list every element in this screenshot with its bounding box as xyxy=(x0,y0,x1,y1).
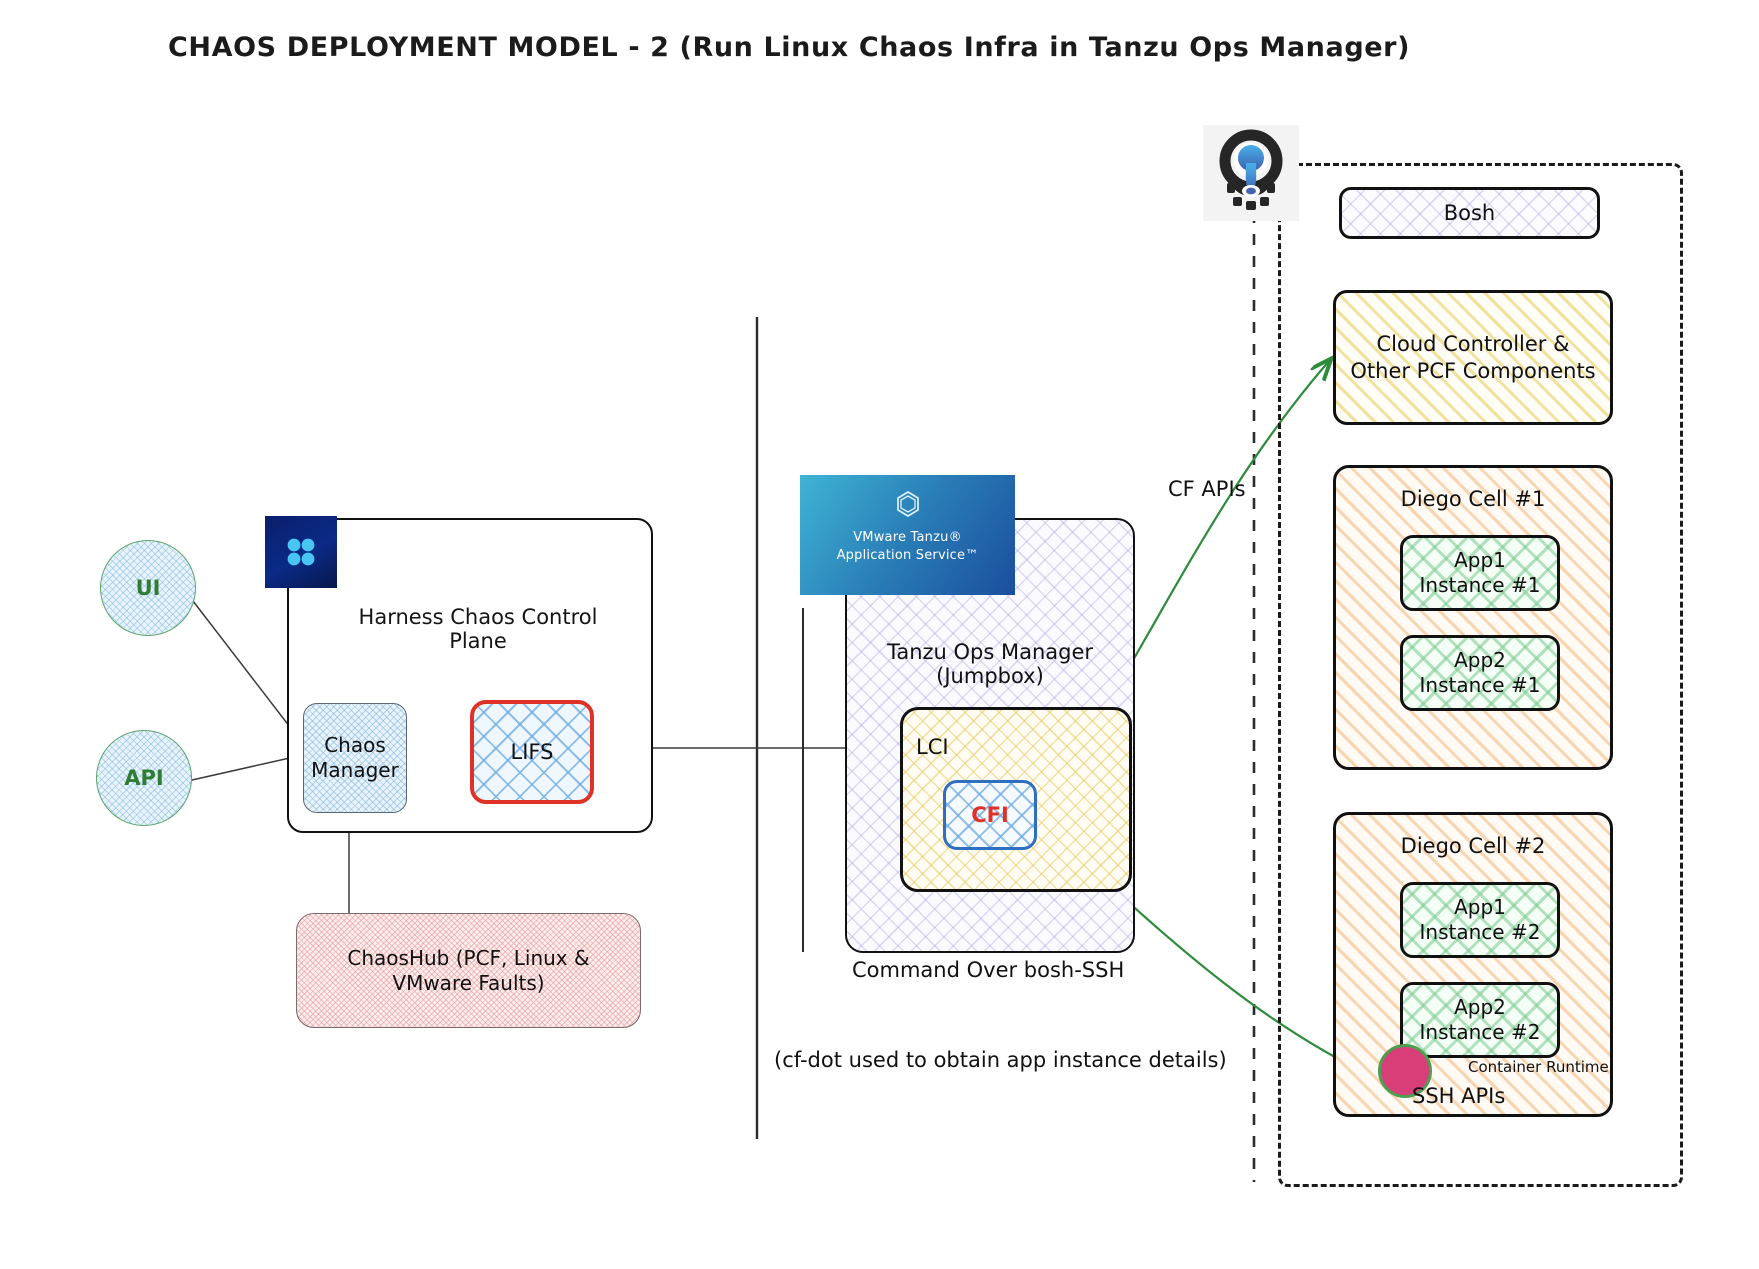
app-instance-label: App1 Instance #2 xyxy=(1420,895,1541,945)
tanzu-ops-manager-label: Tanzu Ops Manager (Jumpbox) xyxy=(845,640,1135,688)
cloud-foundry-glyph xyxy=(1203,125,1299,221)
lci-label: LCI xyxy=(916,735,949,759)
cloud-controller-node[interactable]: Cloud Controller & Other PCF Components xyxy=(1333,290,1613,425)
vmware-tanzu-application-service-logo: VMware Tanzu® Application Service™ xyxy=(800,475,1015,595)
chaoshub-node[interactable]: ChaosHub (PCF, Linux & VMware Faults) xyxy=(296,913,641,1028)
app-instance-box[interactable]: App2 Instance #2 xyxy=(1400,982,1560,1058)
cf-dot-note: (cf-dot used to obtain app instance deta… xyxy=(774,1048,1227,1072)
container-runtime-label: Container Runtime xyxy=(1468,1058,1609,1076)
tas-logo-line2: Application Service™ xyxy=(800,548,1015,563)
chaos-manager-label: Chaos Manager xyxy=(311,733,399,783)
api-circle[interactable]: API xyxy=(96,730,192,826)
app-instance-label: App1 Instance #1 xyxy=(1420,548,1541,598)
diego-cell-2-label: Diego Cell #2 xyxy=(1336,833,1610,859)
chaoshub-label: ChaosHub (PCF, Linux & VMware Faults) xyxy=(347,946,589,996)
cloud-controller-label: Cloud Controller & Other PCF Components xyxy=(1350,331,1595,384)
diego-cell-1[interactable]: Diego Cell #1 xyxy=(1333,465,1613,770)
lifs-node[interactable]: LIFS xyxy=(470,700,594,804)
tas-logo-line1: VMware Tanzu® xyxy=(800,530,1015,545)
app-instance-label: App2 Instance #1 xyxy=(1420,648,1541,698)
ui-circle-label: UI xyxy=(136,575,161,601)
bosh-node[interactable]: Bosh xyxy=(1339,187,1600,239)
cfi-node[interactable]: CFI xyxy=(943,780,1037,850)
command-over-bosh-ssh-note: Command Over bosh-SSH xyxy=(852,958,1124,982)
ui-circle[interactable]: UI xyxy=(100,540,196,636)
app-instance-box[interactable]: App2 Instance #1 xyxy=(1400,635,1560,711)
control-plane-label: Harness Chaos Control Plane xyxy=(328,605,628,653)
bosh-label: Bosh xyxy=(1444,200,1496,226)
ssh-apis-label: SSH APIs xyxy=(1412,1084,1505,1108)
harness-logo-glyph xyxy=(265,516,337,588)
cf-apis-edge-label: CF APIs xyxy=(1168,477,1246,501)
app-instance-box[interactable]: App1 Instance #1 xyxy=(1400,535,1560,611)
api-circle-label: API xyxy=(124,765,163,791)
harness-logo xyxy=(265,516,337,588)
tanzu-hexagon-icon xyxy=(891,489,925,523)
lifs-label: LIFS xyxy=(511,739,554,765)
diego-cell-1-label: Diego Cell #1 xyxy=(1336,486,1610,512)
chaos-manager-node[interactable]: Chaos Manager xyxy=(303,703,407,813)
cloud-foundry-logo xyxy=(1203,125,1299,221)
app-instance-label: App2 Instance #2 xyxy=(1420,995,1541,1045)
app-instance-box[interactable]: App1 Instance #2 xyxy=(1400,882,1560,958)
cfi-label: CFI xyxy=(971,802,1009,828)
diagram-canvas: CHAOS DEPLOYMENT MODEL - 2 (Run Linux Ch… xyxy=(0,0,1759,1269)
